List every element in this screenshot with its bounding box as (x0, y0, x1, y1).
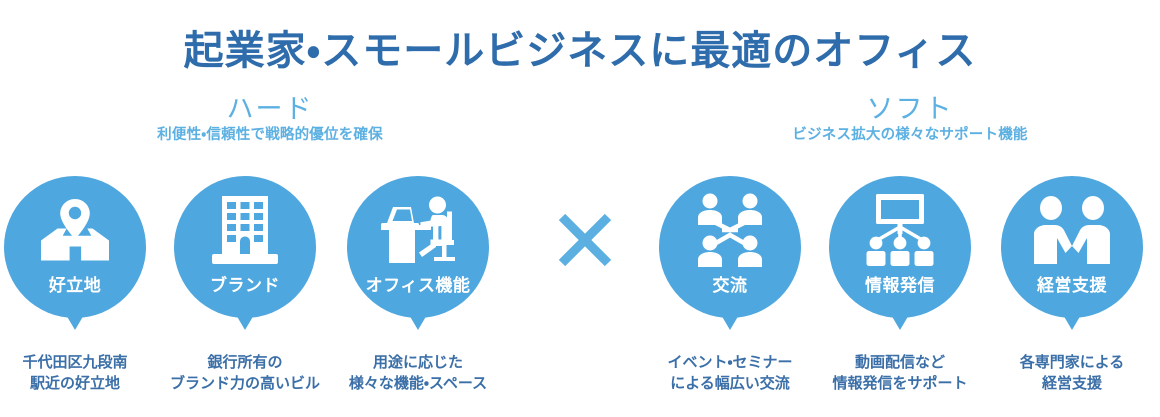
feature-bubble-networking[interactable]: 交流 (659, 176, 801, 318)
bubble-tail (232, 308, 258, 330)
office-building-icon (174, 194, 316, 266)
feature-bubble-information[interactable]: 情報発信 (829, 176, 971, 318)
caption-line-2: 経営支援 (967, 373, 1160, 394)
bubble-label: 交流 (659, 271, 801, 296)
group-title-soft: ソフト (740, 94, 1080, 124)
group-heading-hard: ハード 利便性・信頼性で戦略的優位を確保 (100, 94, 440, 145)
multiply-symbol-icon (553, 208, 617, 272)
bubble-tail (62, 308, 88, 330)
bubble-tail (717, 308, 743, 330)
group-title-hard: ハード (100, 94, 440, 124)
caption-office-function: 用途に応じた 様々な機能・スペース (313, 352, 523, 395)
group-heading-soft: ソフト ビジネス拡大の様々なサポート機能 (740, 94, 1080, 145)
feature-bubble-location[interactable]: 好立地 (4, 176, 146, 318)
caption-line-1: 用途に応じた (313, 352, 523, 373)
feature-bubble-management-support[interactable]: 経営支援 (1001, 176, 1143, 318)
person-at-desk-icon (347, 194, 489, 266)
bubble-label: オフィス機能 (347, 271, 489, 296)
feature-bubble-brand[interactable]: ブランド (174, 176, 316, 318)
bubble-tail (887, 308, 913, 330)
people-network-icon (659, 194, 801, 266)
bubble-tail (405, 308, 431, 330)
group-subtitle-hard: 利便性・信頼性で戦略的優位を確保 (100, 127, 440, 144)
caption-row: 千代田区九段南 駅近の好立地 銀行所有の ブランド力の高いビル 用途に応じた 様… (0, 352, 1160, 412)
map-pin-location-icon (4, 194, 146, 266)
page-title: 起業家・スモールビジネスに最適のオフィス (0, 18, 1160, 76)
caption-management-support: 各専門家による 経営支援 (967, 352, 1160, 395)
handshake-people-icon (1001, 194, 1143, 266)
caption-line-1: 各専門家による (967, 352, 1160, 373)
presentation-broadcast-icon (829, 194, 971, 266)
group-subtitle-soft: ビジネス拡大の様々なサポート機能 (740, 127, 1080, 144)
bubble-label: ブランド (174, 271, 316, 296)
bubble-label: 情報発信 (829, 271, 971, 296)
caption-line-2: 様々な機能・スペース (313, 373, 523, 394)
bubble-label: 経営支援 (1001, 271, 1143, 296)
feature-bubble-office-function[interactable]: オフィス機能 (347, 176, 489, 318)
bubble-label: 好立地 (4, 271, 146, 296)
bubble-tail (1059, 308, 1085, 330)
